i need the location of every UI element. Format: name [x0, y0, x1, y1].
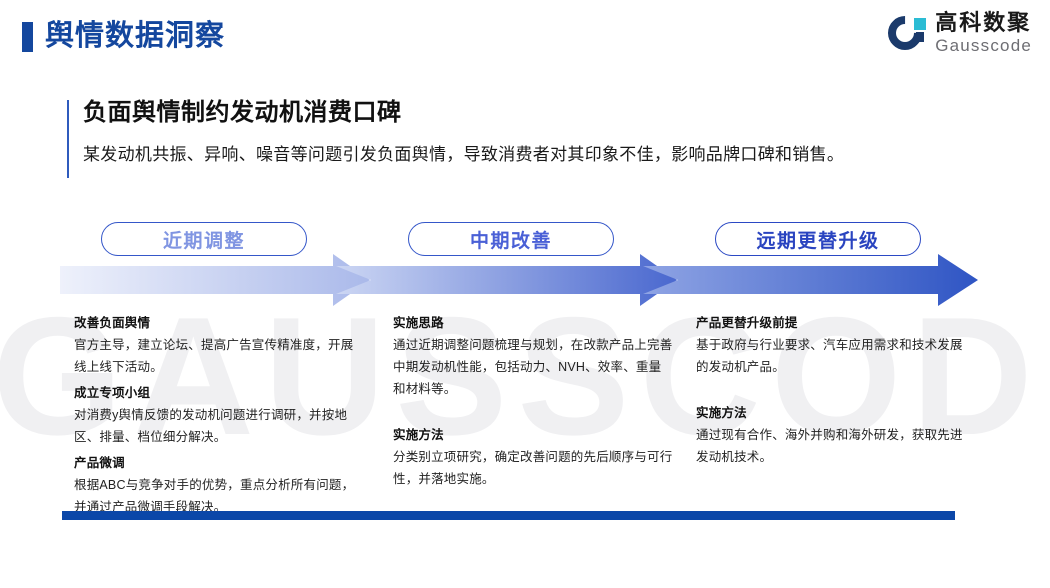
arrow-segment-3: [643, 254, 978, 306]
detail-block: 产品微调 根据ABC与竞争对手的优势，重点分析所有问题，并通过产品微调手段解决。: [74, 452, 364, 518]
arrow-segment-2: [336, 254, 677, 306]
detail-column-long-term: 产品更替升级前提 基于政府与行业要求、汽车应用需求和技术发展的发动机产品。 实施…: [696, 312, 971, 472]
detail-heading: 实施方法: [696, 402, 971, 424]
footer-accent-bar: [62, 511, 955, 520]
logo-name-cn: 高科数聚: [935, 12, 1032, 34]
gausscode-logo-icon: [888, 14, 926, 52]
detail-heading: 实施方法: [393, 424, 673, 446]
detail-body: 分类别立项研究，确定改善问题的先后顺序与可行性，并落地实施。: [393, 446, 673, 490]
detail-heading: 实施思路: [393, 312, 673, 334]
detail-column-mid-term: 实施思路 通过近期调整问题梳理与规划，在改款产品上完善中期发动机性能，包括动力、…: [393, 312, 673, 494]
detail-body: 基于政府与行业要求、汽车应用需求和技术发展的发动机产品。: [696, 334, 971, 378]
headline-title: 负面舆情制约发动机消费口碑: [83, 96, 844, 130]
slide-root: GAUSSCODE 舆情数据洞察 高科数聚 Gausscode 负面舆情制约发动…: [0, 0, 1050, 588]
logo-cyan-square-icon: [914, 18, 926, 30]
logo-name-en: Gausscode: [935, 37, 1032, 54]
detail-block: 改善负面舆情 官方主导，建立论坛、提高广告宣传精准度，开展线上线下活动。: [74, 312, 364, 378]
stage-pill-mid-term[interactable]: 中期改善: [408, 222, 614, 256]
timeline-stage-labels: 近期调整 中期改善 远期更替升级: [0, 222, 1050, 258]
detail-body: 通过近期调整问题梳理与规划，在改款产品上完善中期发动机性能，包括动力、NVH、效…: [393, 334, 673, 400]
detail-block: 产品更替升级前提 基于政府与行业要求、汽车应用需求和技术发展的发动机产品。: [696, 312, 971, 378]
stage-pill-near-term[interactable]: 近期调整: [101, 222, 307, 256]
page-title: 舆情数据洞察: [45, 16, 225, 56]
header-accent-bar: [22, 22, 33, 52]
detail-heading: 成立专项小组: [74, 382, 364, 404]
detail-heading: 改善负面舆情: [74, 312, 364, 334]
detail-block: 实施方法 分类别立项研究，确定改善问题的先后顺序与可行性，并落地实施。: [393, 424, 673, 490]
stage-pill-long-term[interactable]: 远期更替升级: [715, 222, 921, 256]
detail-heading: 产品更替升级前提: [696, 312, 971, 334]
detail-block: 实施思路 通过近期调整问题梳理与规划，在改款产品上完善中期发动机性能，包括动力、…: [393, 312, 673, 400]
detail-body: 通过现有合作、海外并购和海外研发，获取先进发动机技术。: [696, 424, 971, 468]
timeline-arrow: [0, 254, 1050, 306]
logo-dark-square-icon: [916, 32, 924, 42]
detail-block: 实施方法 通过现有合作、海外并购和海外研发，获取先进发动机技术。: [696, 402, 971, 468]
headline-block: 负面舆情制约发动机消费口碑 某发动机共振、异响、噪音等问题引发负面舆情，导致消费…: [67, 96, 844, 168]
detail-column-near-term: 改善负面舆情 官方主导，建立论坛、提高广告宣传精准度，开展线上线下活动。 成立专…: [74, 312, 364, 522]
arrow-segment-1: [60, 254, 370, 306]
brand-logo: 高科数聚 Gausscode: [888, 12, 1032, 54]
detail-heading: 产品微调: [74, 452, 364, 474]
detail-block: 成立专项小组 对消费y舆情反馈的发动机问题进行调研，并按地区、排量、档位细分解决…: [74, 382, 364, 448]
logo-text: 高科数聚 Gausscode: [935, 12, 1032, 54]
headline-accent-rule: [67, 100, 69, 178]
detail-body: 对消费y舆情反馈的发动机问题进行调研，并按地区、排量、档位细分解决。: [74, 404, 364, 448]
headline-subtitle: 某发动机共振、异响、噪音等问题引发负面舆情，导致消费者对其印象不佳，影响品牌口碑…: [83, 142, 844, 168]
detail-body: 官方主导，建立论坛、提高广告宣传精准度，开展线上线下活动。: [74, 334, 364, 378]
